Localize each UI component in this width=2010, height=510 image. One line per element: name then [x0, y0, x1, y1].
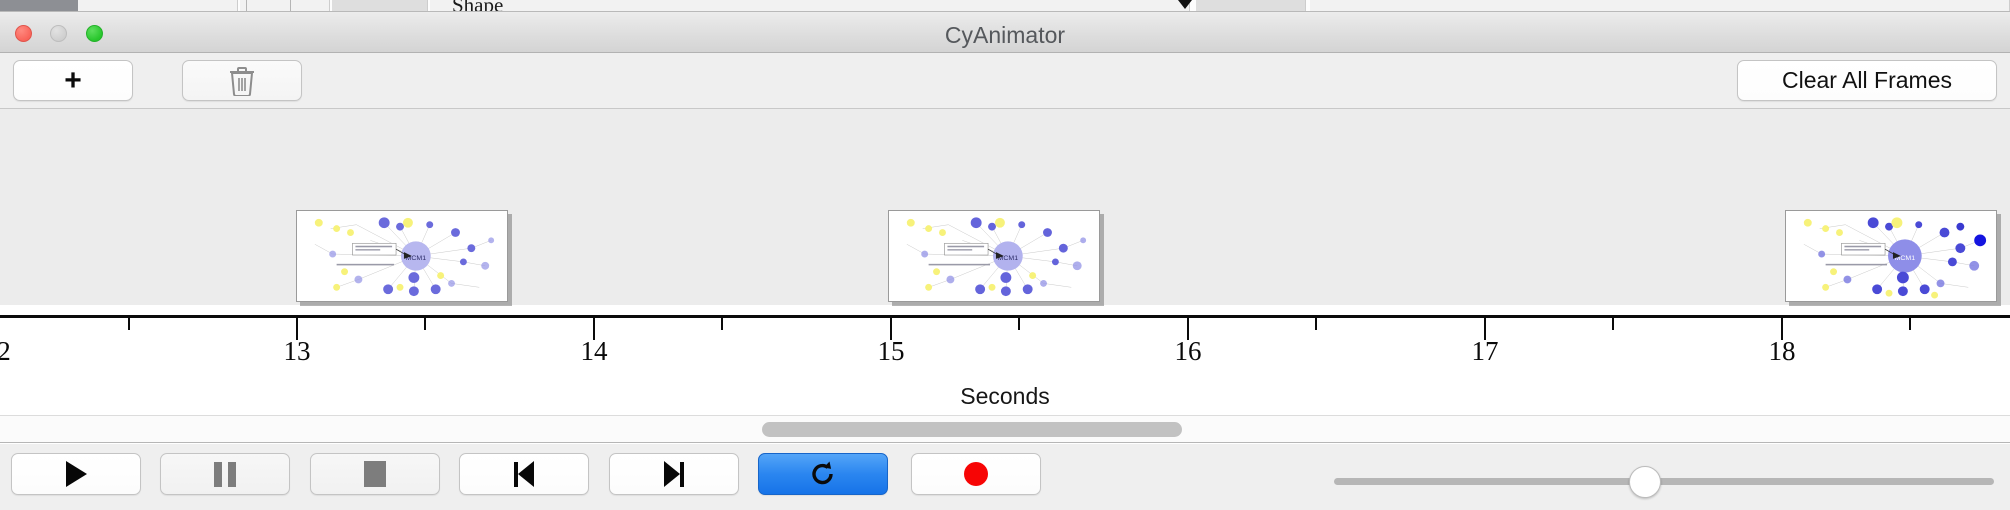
ruler-label: 17	[1472, 336, 1499, 367]
record-icon	[964, 462, 988, 486]
stop-button[interactable]	[310, 453, 440, 495]
loop-icon	[808, 459, 838, 489]
skip-forward-icon	[664, 461, 684, 487]
timeline-frame[interactable]: MCM1	[1785, 210, 1997, 302]
ruler-label: 14	[581, 336, 608, 367]
background-window-strip: Shape	[0, 0, 2010, 12]
cyanimator-window: Shape CyAnimator + Clear All Frames	[0, 0, 2010, 510]
pause-icon	[214, 462, 236, 487]
plus-icon: +	[64, 66, 82, 96]
background-segment	[1196, 0, 1306, 11]
ruler-label: 18	[1769, 336, 1796, 367]
play-icon	[66, 461, 87, 487]
title-bar: CyAnimator	[0, 12, 2010, 53]
animation-speed-slider-thumb[interactable]	[1629, 466, 1661, 498]
horizontal-scrollbar-track[interactable]	[0, 415, 2010, 443]
add-frame-button[interactable]: +	[13, 60, 133, 101]
loop-button[interactable]	[758, 453, 888, 495]
network-thumbnail: MCM1	[889, 211, 1099, 301]
ruler-label: 13	[284, 336, 311, 367]
ruler-tick-minor	[1018, 318, 1020, 330]
ruler-label: 15	[878, 336, 905, 367]
horizontal-scrollbar-thumb[interactable]	[762, 422, 1182, 437]
record-button[interactable]	[911, 453, 1041, 495]
trash-icon	[229, 66, 255, 96]
background-segment	[1310, 0, 2010, 11]
clear-all-frames-label: Clear All Frames	[1782, 67, 1952, 94]
timeline-ruler	[0, 315, 2010, 318]
network-thumbnail: MCM1	[297, 211, 507, 301]
background-caret-icon	[1178, 0, 1192, 9]
background-dark-tab	[0, 0, 78, 11]
ruler-tick-minor	[1612, 318, 1614, 330]
play-button[interactable]	[11, 453, 141, 495]
background-segment	[430, 0, 1190, 11]
stop-icon	[364, 461, 386, 487]
background-segment	[332, 0, 428, 11]
delete-frame-button[interactable]	[182, 60, 302, 101]
ruler-tick-minor	[1315, 318, 1317, 330]
clear-all-frames-button[interactable]: Clear All Frames	[1737, 60, 1997, 101]
ruler-tick-minor	[721, 318, 723, 330]
next-frame-button[interactable]	[609, 453, 739, 495]
window-title: CyAnimator	[0, 22, 2010, 49]
transport-bar: Animation Speed:	[0, 444, 2010, 510]
network-thumbnail: MCM1	[1786, 211, 1996, 301]
ruler-label: 16	[1175, 336, 1202, 367]
ruler-tick-minor	[128, 318, 130, 330]
ruler-label: 2	[0, 336, 11, 367]
background-peek-text: Shape	[452, 0, 503, 12]
background-segment	[78, 0, 238, 11]
animation-speed-slider-track[interactable]	[1334, 478, 1994, 485]
pause-button[interactable]	[160, 453, 290, 495]
skip-back-icon	[514, 461, 534, 487]
ruler-tick-minor	[424, 318, 426, 330]
previous-frame-button[interactable]	[459, 453, 589, 495]
ruler-tick-minor	[1909, 318, 1911, 330]
axis-label-seconds: Seconds	[0, 383, 2010, 410]
background-segment	[240, 0, 330, 11]
timeline-frame[interactable]: MCM1	[888, 210, 1100, 302]
toolbar: + Clear All Frames	[0, 53, 2010, 109]
timeline-frame[interactable]: MCM1	[296, 210, 508, 302]
